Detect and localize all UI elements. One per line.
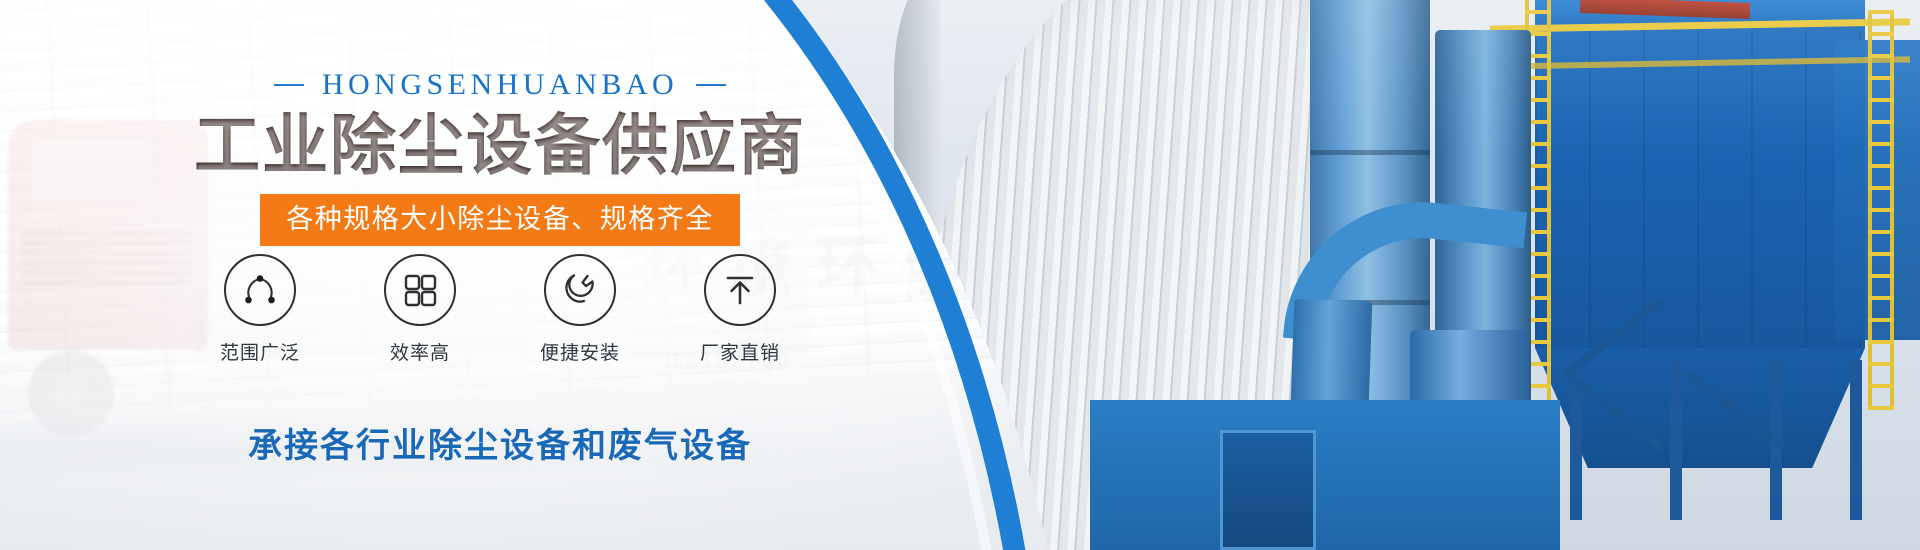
badge-row: 各种规格大小除尘设备、规格齐全 [0,194,1000,246]
feature-item-coverage[interactable]: 范围广泛 [212,254,308,365]
feature-label: 范围广泛 [212,338,308,365]
hero-banner: 环 境 环 保 13132700 [0,0,1920,550]
dash-left-icon [274,84,304,86]
dash-right-icon [696,84,726,86]
feature-item-installation[interactable]: 便捷安装 [532,254,628,365]
feature-item-direct-sales[interactable]: 厂家直销 [692,254,788,365]
feature-label: 效率高 [372,338,468,365]
banner-content: HONGSENHUANBAO 工业除尘设备供应商 各种规格大小除尘设备、规格齐全 [0,0,1000,550]
upload-arrow-icon [704,254,776,326]
status-badge: 各种规格大小除尘设备、规格齐全 [260,194,740,246]
page-title: 工业除尘设备供应商 [0,108,1000,184]
grid-squares-icon [384,254,456,326]
feature-label: 便捷安装 [532,338,628,365]
wrench-circle-icon [544,254,616,326]
feature-item-efficiency[interactable]: 效率高 [372,254,468,365]
feature-list: 范围广泛 效率高 [0,254,1000,365]
eyebrow-text: HONGSENHUANBAO [322,68,678,102]
banner-tagline: 承接各行业除尘设备和废气设备 [0,418,1000,467]
feature-label: 厂家直销 [692,338,788,365]
eyebrow-brand: HONGSENHUANBAO [0,68,1000,102]
coverage-network-icon [224,254,296,326]
